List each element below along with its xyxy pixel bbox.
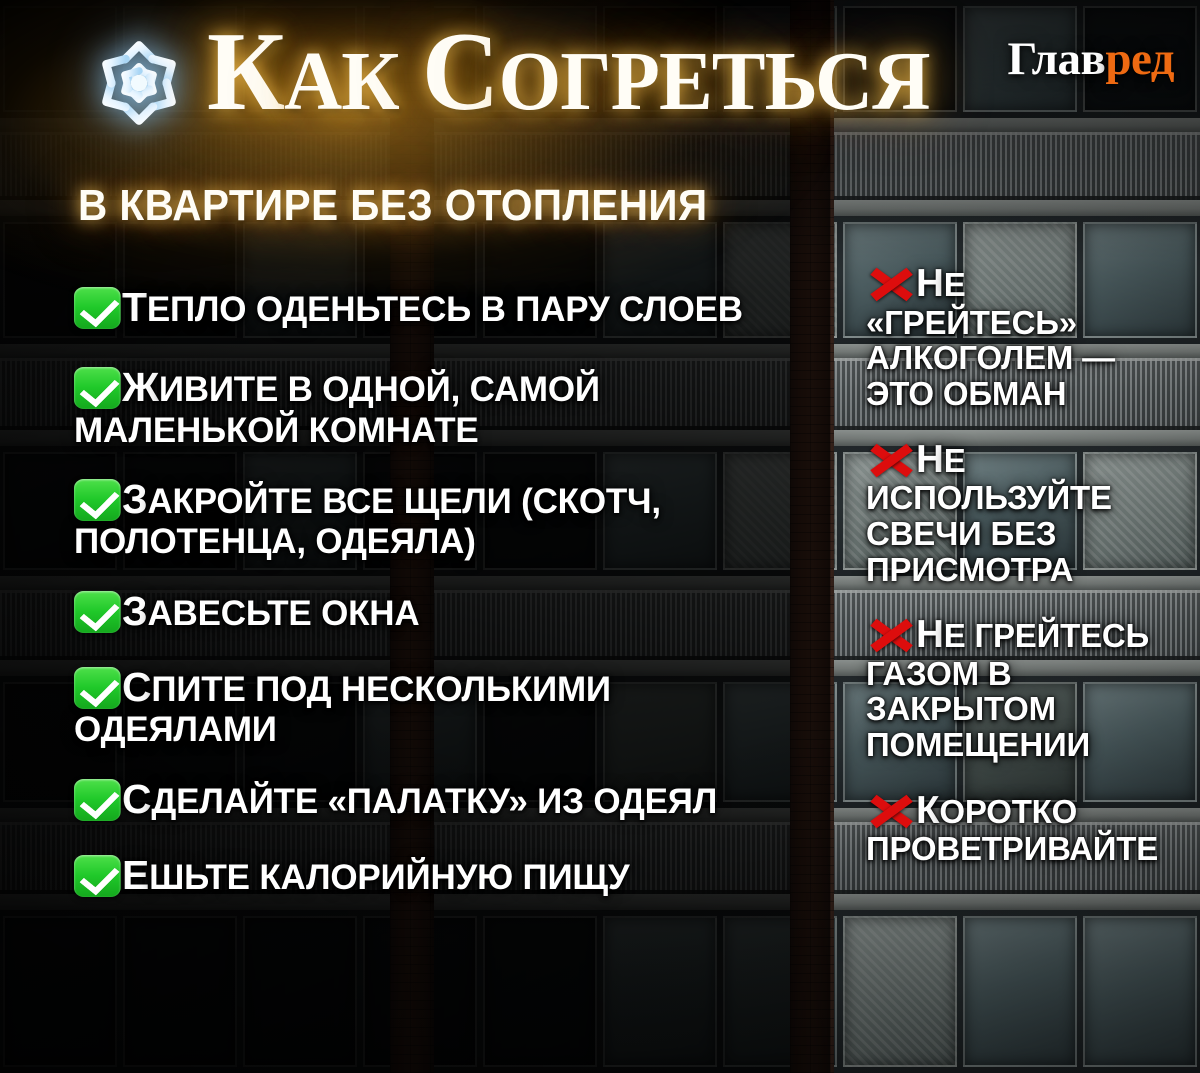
red-x-icon	[866, 438, 917, 480]
page-title: КАК СОГРЕТЬСЯ	[207, 16, 930, 128]
logo-part-orange: ред	[1105, 33, 1174, 85]
list-item: СПИТЕ ПОД НЕСКОЛЬКИМИ ОДЕЯЛАМИ	[74, 664, 819, 750]
do-list: ТЕПЛО ОДЕНЬТЕСЬ В ПАРУ СЛОЕВ ЖИВИТЕ В ОД…	[74, 284, 819, 899]
list-item: ЗАВЕСЬТЕ ОКНА	[74, 588, 819, 634]
list-item: КОРОТКО ПРОВЕТРИВАЙТЕ	[866, 789, 1196, 867]
title-cap-2: С	[422, 10, 499, 134]
list-item: НЕ ИСПОЛЬЗУЙТЕ СВЕЧИ БЕЗ ПРИСМОТРА	[866, 438, 1196, 588]
list-item: СДЕЛАЙТЕ «ПАЛАТКУ» ИЗ ОДЕЯЛ	[74, 776, 819, 822]
do-item-text-5: СПИТЕ ПОД НЕСКОЛЬКИМИ ОДЕЯЛАМИ	[74, 670, 611, 749]
infographic-poster: КАК СОГРЕТЬСЯ В КВАРТИРЕ БЕЗ ОТОПЛЕНИЯ Г…	[0, 0, 1200, 1073]
list-item: НЕ «ГРЕЙТЕСЬ» АЛКОГОЛЕМ — ЭТО ОБМАН	[866, 262, 1196, 412]
snowflake-icon	[80, 24, 198, 142]
list-item: ТЕПЛО ОДЕНЬТЕСЬ В ПАРУ СЛОЕВ	[74, 284, 819, 330]
poster-header: КАК СОГРЕТЬСЯ В КВАРТИРЕ БЕЗ ОТОПЛЕНИЯ	[0, 0, 900, 260]
do-item-text-1: ТЕПЛО ОДЕНЬТЕСЬ В ПАРУ СЛОЕВ	[122, 290, 743, 329]
do-item-text-4: ЗАВЕСЬТЕ ОКНА	[122, 594, 419, 633]
red-x-icon	[866, 613, 917, 655]
title-rest-2: ОГРЕТЬСЯ	[499, 35, 930, 128]
do-item-text-6: СДЕЛАЙТЕ «ПАЛАТКУ» ИЗ ОДЕЯЛ	[122, 782, 717, 821]
green-check-icon	[74, 479, 121, 521]
green-check-icon	[74, 287, 121, 329]
do-item-text-2: ЖИВИТЕ В ОДНОЙ, САМОЙ МАЛЕНЬКОЙ КОМНАТЕ	[74, 370, 600, 449]
red-x-icon	[866, 789, 917, 831]
list-item: ЕШЬТЕ КАЛОРИЙНУЮ ПИЩУ	[74, 852, 819, 898]
do-item-text-7: ЕШЬТЕ КАЛОРИЙНУЮ ПИЩУ	[122, 858, 629, 897]
list-item: ЖИВИТЕ В ОДНОЙ, САМОЙ МАЛЕНЬКОЙ КОМНАТЕ	[74, 364, 819, 450]
do-item-text-3: ЗАКРОЙТЕ ВСЕ ЩЕЛИ (СКОТЧ, ПОЛОТЕНЦА, ОДЕ…	[74, 482, 661, 561]
page-subtitle: В КВАРТИРЕ БЕЗ ОТОПЛЕНИЯ	[78, 184, 708, 228]
list-item: НЕ ГРЕЙТЕСЬ ГАЗОМ В ЗАКРЫТОМ ПОМЕЩЕНИИ	[866, 613, 1196, 763]
green-check-icon	[74, 779, 121, 821]
title-rest-1: АК	[284, 35, 399, 128]
green-check-icon	[74, 367, 121, 409]
title-cap-1: К	[207, 10, 284, 134]
dont-list: НЕ «ГРЕЙТЕСЬ» АЛКОГОЛЕМ — ЭТО ОБМАН НЕ И…	[866, 262, 1196, 867]
red-x-icon	[866, 262, 917, 304]
list-item: ЗАКРОЙТЕ ВСЕ ЩЕЛИ (СКОТЧ, ПОЛОТЕНЦА, ОДЕ…	[74, 476, 819, 562]
logo-part-white: Глав	[1007, 33, 1105, 85]
green-check-icon	[74, 667, 121, 709]
green-check-icon	[74, 855, 121, 897]
glavred-logo[interactable]: Главред	[1007, 36, 1174, 83]
green-check-icon	[74, 591, 121, 633]
